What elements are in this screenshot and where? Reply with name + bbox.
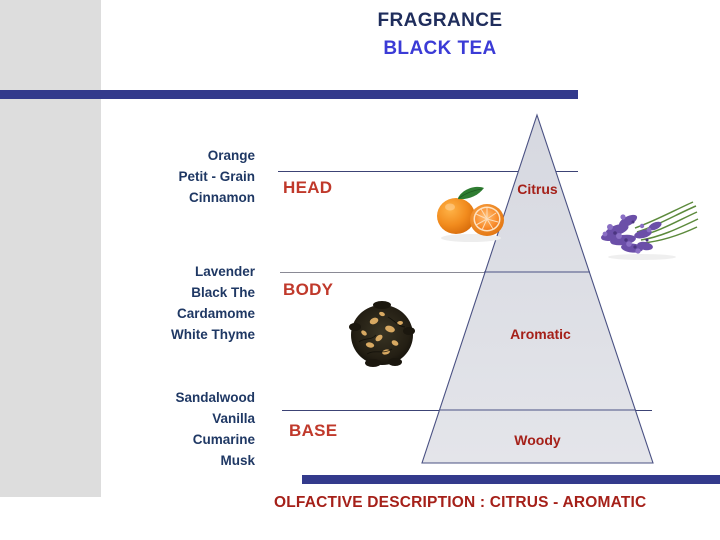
note-item: Black The: [75, 282, 255, 303]
tea-leaves-photo: [343, 297, 421, 369]
note-item: Cumarine: [75, 429, 255, 450]
top-divider-bar: [0, 90, 578, 99]
watermark-text: [130, 33, 178, 47]
notes-head-group: Orange Petit - Grain Cinnamon: [75, 145, 255, 208]
title-black-tea: BLACK TEA: [230, 34, 650, 64]
title-fragrance: FRAGRANCE: [230, 8, 650, 34]
notes-body-group: Lavender Black The Cardamome White Thyme: [75, 261, 255, 345]
pyramid-label-woody: Woody: [490, 432, 585, 448]
lavender-photo: [597, 196, 701, 262]
note-item: White Thyme: [75, 324, 255, 345]
bottom-divider-bar: [302, 475, 720, 484]
fragrance-slide: FRAGRANCE BLACK TEA Orange Petit - Grain…: [0, 0, 720, 540]
note-item: Cinnamon: [75, 187, 255, 208]
fragrance-pyramid: [410, 108, 665, 470]
layer-label-head: HEAD: [283, 178, 332, 198]
pyramid-label-aromatic: Aromatic: [488, 326, 593, 342]
note-item: Orange: [75, 145, 255, 166]
note-item: Lavender: [75, 261, 255, 282]
layer-label-base: BASE: [289, 421, 337, 441]
layer-label-body: BODY: [283, 280, 333, 300]
note-item: Cardamome: [75, 303, 255, 324]
olfactive-description-caption: OLFACTIVE DESCRIPTION : CITRUS - AROMATI…: [274, 494, 720, 512]
notes-base-group: Sandalwood Vanilla Cumarine Musk: [75, 387, 255, 471]
slide-title: FRAGRANCE BLACK TEA: [230, 8, 650, 64]
note-item: Sandalwood: [75, 387, 255, 408]
note-item: Vanilla: [75, 408, 255, 429]
oranges-photo: [432, 176, 510, 244]
note-item: Petit - Grain: [75, 166, 255, 187]
note-item: Musk: [75, 450, 255, 471]
